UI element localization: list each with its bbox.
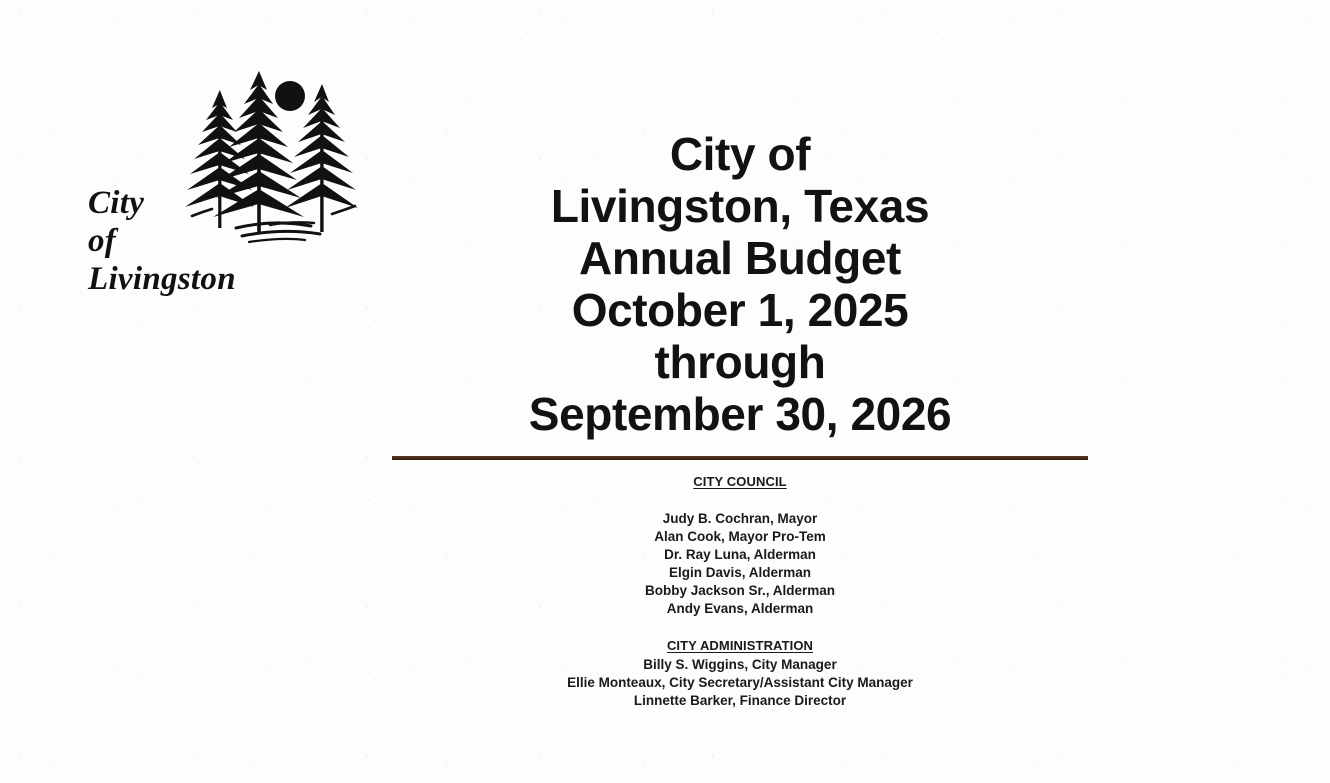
title-line-1: City of <box>392 128 1088 180</box>
logo-wordmark-line-2: of <box>88 222 236 260</box>
document-title: City of Livingston, Texas Annual Budget … <box>392 128 1088 440</box>
list-item: Alan Cook, Mayor Pro-Tem <box>392 528 1088 546</box>
list-item: Andy Evans, Alderman <box>392 600 1088 618</box>
list-item: Dr. Ray Luna, Alderman <box>392 546 1088 564</box>
title-line-4: October 1, 2025 <box>392 284 1088 336</box>
title-line-2: Livingston, Texas <box>392 180 1088 232</box>
list-item: Bobby Jackson Sr., Alderman <box>392 582 1088 600</box>
officials-roster: CITY COUNCIL Judy B. Cochran, Mayor Alan… <box>392 472 1088 710</box>
logo-wordmark: City of Livingston <box>88 184 236 298</box>
roster-spacer <box>392 492 1088 510</box>
title-line-3: Annual Budget <box>392 232 1088 284</box>
title-line-5: through <box>392 336 1088 388</box>
logo-wordmark-line-3: Livingston <box>88 260 236 298</box>
city-logo: City of Livingston <box>78 68 378 308</box>
title-line-6: September 30, 2026 <box>392 388 1088 440</box>
city-administration-heading: CITY ADMINISTRATION <box>392 636 1088 656</box>
list-item: Billy S. Wiggins, City Manager <box>392 656 1088 674</box>
list-item: Ellie Monteaux, City Secretary/Assistant… <box>392 674 1088 692</box>
city-council-heading: CITY COUNCIL <box>392 472 1088 492</box>
list-item: Elgin Davis, Alderman <box>392 564 1088 582</box>
logo-wordmark-line-1: City <box>88 184 236 222</box>
list-item: Judy B. Cochran, Mayor <box>392 510 1088 528</box>
city-administration-list: Billy S. Wiggins, City Manager Ellie Mon… <box>392 656 1088 710</box>
city-council-list: Judy B. Cochran, Mayor Alan Cook, Mayor … <box>392 510 1088 618</box>
roster-section-gap <box>392 618 1088 636</box>
document-page: City of Livingston City of Livingston, T… <box>0 0 1330 783</box>
list-item: Linnette Barker, Finance Director <box>392 692 1088 710</box>
horizontal-divider <box>392 456 1088 460</box>
